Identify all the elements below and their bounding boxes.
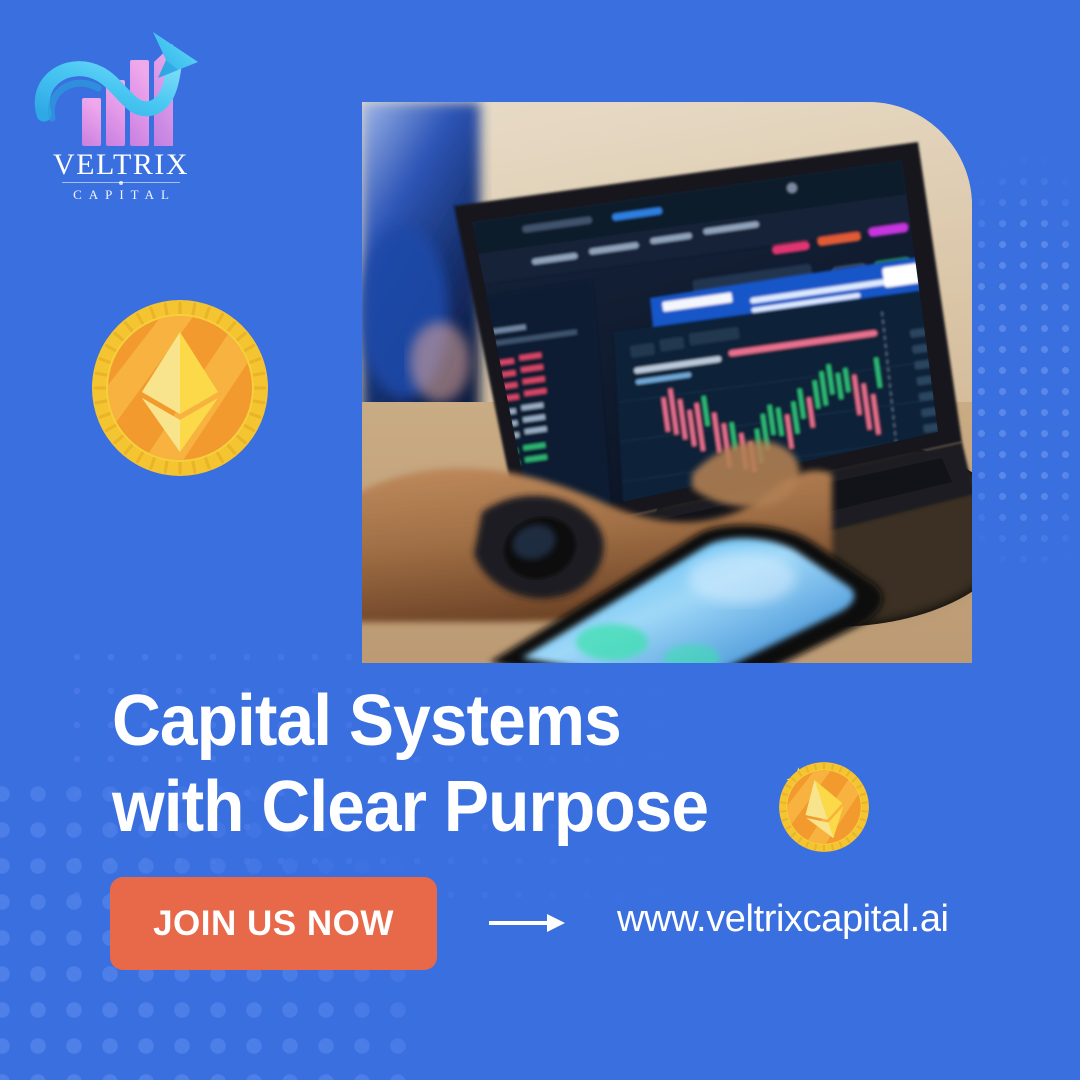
growth-chart-arrow-icon [26, 22, 216, 152]
page-title: Capital Systems with Clear Purpose [112, 678, 826, 850]
brand-tagline: CAPITAL [26, 188, 216, 201]
photo-illustration [362, 102, 972, 663]
headline-line-2: with Clear Purpose [112, 764, 826, 850]
poster-canvas: VELTRIX CAPITAL [0, 0, 1080, 1080]
brand-logo[interactable]: VELTRIX CAPITAL [26, 22, 216, 202]
logo-divider [62, 182, 180, 183]
hero-photo-laptop-trading [362, 102, 972, 663]
ethereum-coin-icon-small [774, 756, 874, 856]
join-us-now-button[interactable]: JOIN US NOW [110, 877, 437, 970]
ethereum-coin-icon-large [82, 288, 278, 484]
headline-line-1: Capital Systems [112, 678, 826, 764]
website-url[interactable]: www.veltrixcapital.ai [617, 898, 949, 941]
brand-name: VELTRIX [26, 150, 216, 180]
arrow-right-icon [487, 909, 567, 937]
